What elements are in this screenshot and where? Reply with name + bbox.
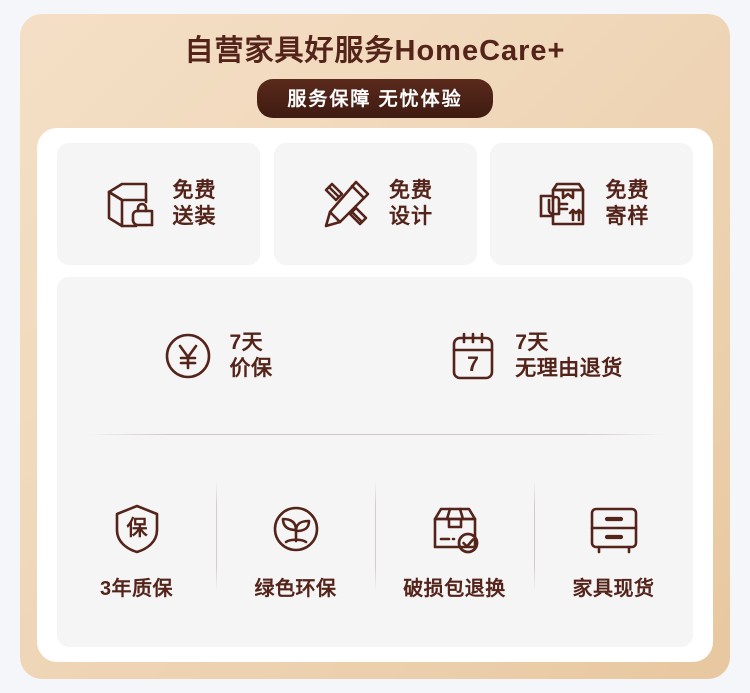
service-mid-row: 7天价保 7 7天无理由退货	[57, 277, 693, 434]
service-item-eco-friendly[interactable]: 绿色环保	[216, 455, 375, 647]
shield-warranty-icon: 保	[109, 501, 165, 557]
service-item-warranty[interactable]: 保 3年质保	[57, 455, 216, 647]
service-card-free-delivery[interactable]: 免费送装	[57, 143, 260, 265]
page-title: 自营家具好服务HomeCare+	[185, 34, 566, 69]
service-card-free-design[interactable]: 免费设计	[274, 143, 477, 265]
promo-banner: 自营家具好服务HomeCare+ 服务保障 无忧体验	[0, 0, 750, 693]
service-card-free-sample[interactable]: 免费寄样	[490, 143, 693, 265]
service-item-label: 破损包退换	[403, 572, 506, 601]
eco-sprout-circle-icon	[268, 501, 324, 557]
calendar-7-icon: 7	[445, 328, 501, 384]
service-item-price-protection[interactable]: 7天价保	[57, 277, 375, 434]
service-item-no-reason-return[interactable]: 7 7天无理由退货	[375, 277, 693, 434]
svg-text:保: 保	[125, 517, 148, 540]
service-item-label: 3年质保	[100, 572, 173, 601]
yuan-circle-icon	[160, 328, 216, 384]
dresser-in-stock-icon	[586, 501, 642, 557]
header-badge: 服务保障 无忧体验	[257, 79, 492, 118]
header: 自营家具好服务HomeCare+ 服务保障 无忧体验	[20, 14, 730, 128]
box-sofa-delivery-icon	[101, 175, 159, 233]
damaged-parcel-check-icon	[427, 501, 483, 557]
service-lower-panel: 7天价保 7 7天无理由退货	[57, 277, 693, 647]
service-top-row: 免费送装 免费设计	[57, 143, 693, 265]
service-item-damage-return[interactable]: 破损包退换	[375, 455, 534, 647]
service-item-label: 7天价保	[230, 330, 273, 381]
service-card-label: 免费设计	[389, 178, 433, 229]
service-item-label: 7天无理由退货	[515, 330, 623, 381]
service-item-in-stock[interactable]: 家具现货	[534, 455, 693, 647]
service-item-label: 家具现货	[573, 572, 655, 601]
service-card-label: 免费送装	[173, 178, 217, 229]
hand-parcel-sample-icon	[534, 175, 592, 233]
service-card-label: 免费寄样	[606, 178, 650, 229]
pencil-ruler-design-icon	[317, 175, 375, 233]
service-bottom-row: 保 3年质保 绿色环	[57, 455, 693, 647]
service-item-label: 绿色环保	[255, 572, 337, 601]
svg-text:7: 7	[467, 353, 479, 376]
horizontal-divider	[85, 434, 665, 435]
